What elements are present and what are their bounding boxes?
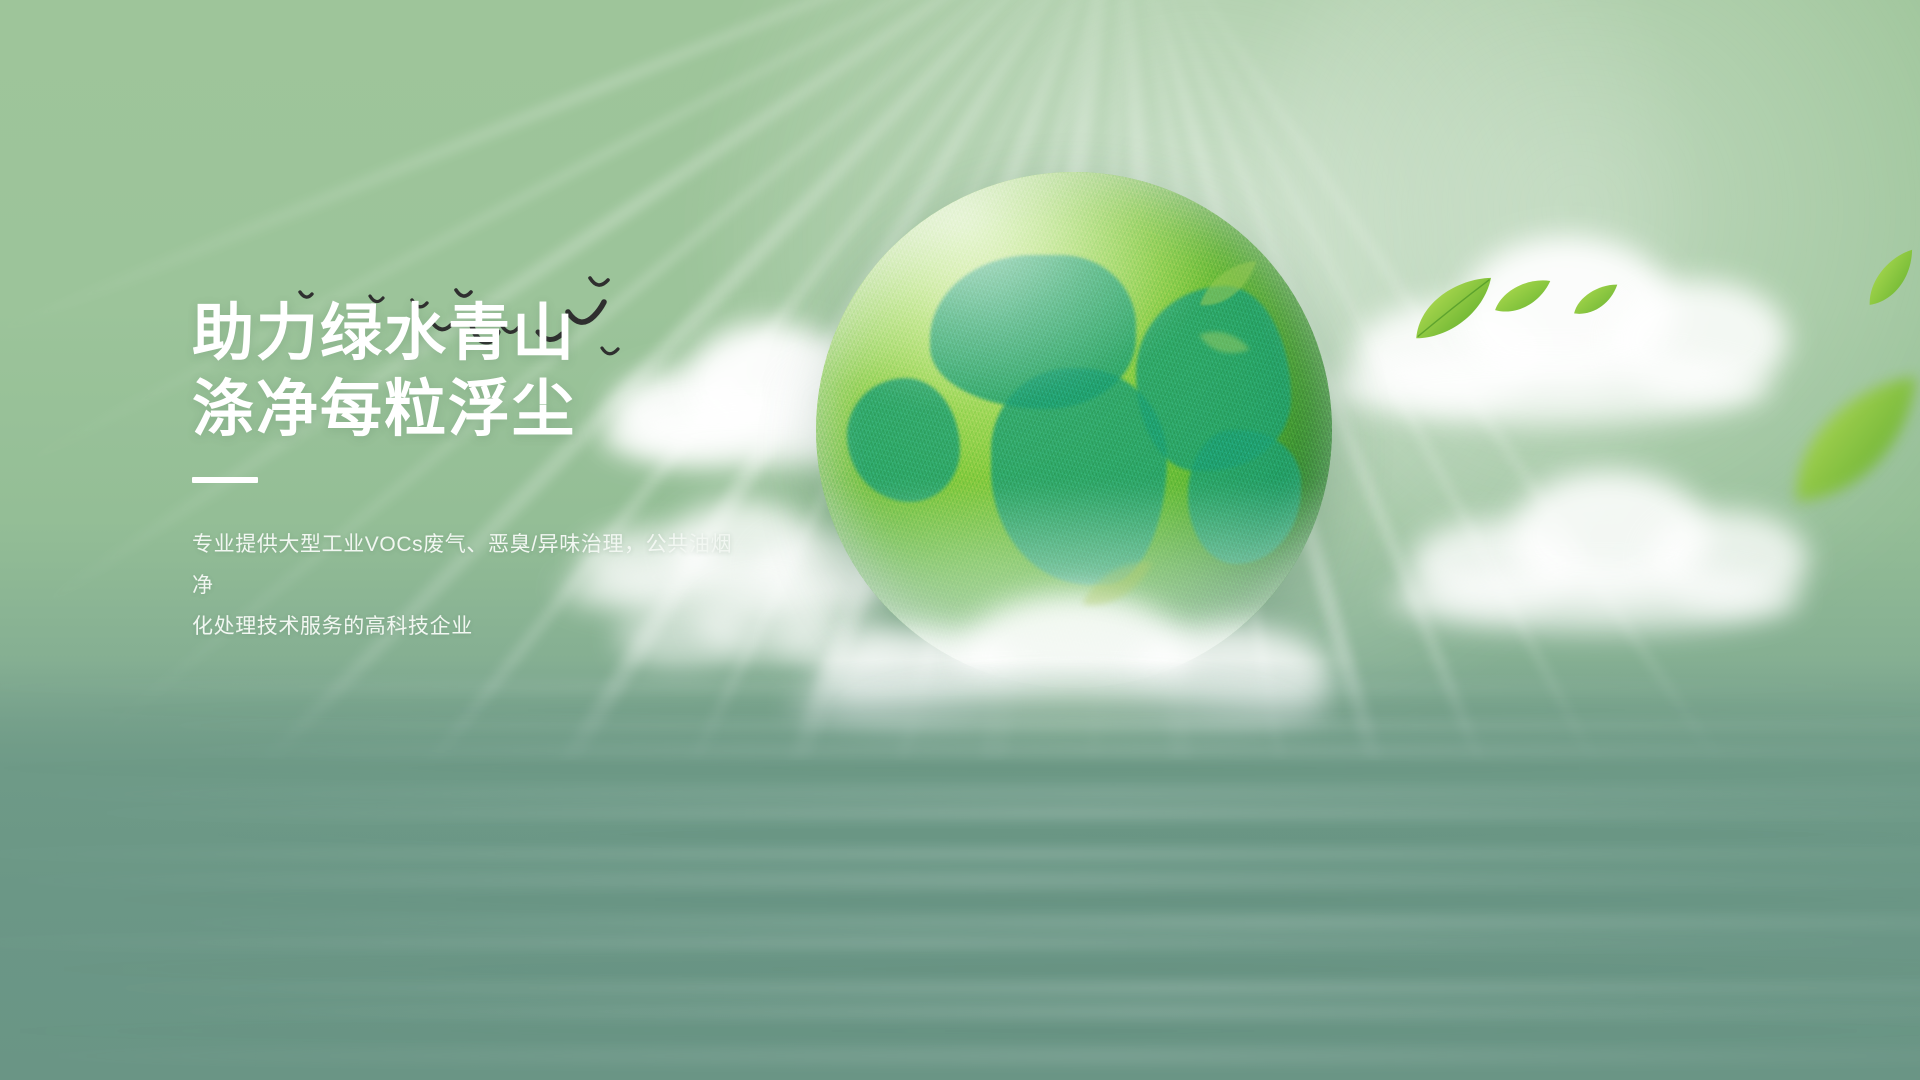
water-ripple — [0, 1026, 1920, 1036]
banner-copy: 助力绿水青山 涤净每粒浮尘 专业提供大型工业VOCs废气、恶臭/异味治理，公共油… — [192, 296, 952, 648]
hero-banner: 助力绿水青山 涤净每粒浮尘 专业提供大型工业VOCs废气、恶臭/异味治理，公共油… — [0, 0, 1920, 1080]
bird-icon — [590, 278, 608, 285]
water-ripple — [0, 982, 1920, 994]
headline-line-2: 涤净每粒浮尘 — [192, 372, 952, 448]
water-ripple — [0, 722, 1920, 729]
title-divider — [192, 477, 258, 483]
headline-line-1: 助力绿水青山 — [192, 296, 952, 372]
cloud-right — [1330, 210, 1800, 440]
leaf-icon — [1401, 270, 1507, 349]
water-ripple — [0, 808, 1920, 818]
water-ripple — [77, 1004, 1920, 1019]
leaf-icon — [1568, 281, 1625, 320]
upper-right-glow — [1250, 0, 1920, 620]
water-ripple — [77, 828, 1920, 841]
water-ripple — [0, 872, 1920, 889]
page-title: 助力绿水青山 涤净每粒浮尘 — [192, 296, 952, 447]
water-ripple — [0, 786, 1920, 802]
cloud-right-lower — [1390, 440, 1820, 640]
leaf-icon — [1854, 246, 1920, 312]
water-ripple — [0, 938, 1920, 947]
water-ripple — [77, 744, 1920, 758]
water-ripple — [0, 960, 1920, 978]
water-ripple — [0, 850, 1920, 858]
banner-subcopy: 专业提供大型工业VOCs废气、恶臭/异味治理，公共油烟净 化处理技术服务的高科技… — [192, 525, 752, 648]
leaf-icon — [1762, 365, 1920, 519]
water-ripple — [0, 1048, 1920, 1064]
water-surface — [0, 660, 1920, 1080]
water-ripple — [0, 704, 1920, 716]
leaf-icon — [1490, 276, 1557, 318]
subcopy-line-2: 化处理技术服务的高科技企业 — [192, 607, 752, 648]
water-ripple — [0, 764, 1920, 772]
water-ripple — [77, 916, 1920, 930]
water-ripple — [0, 682, 1920, 691]
water-ripple — [0, 894, 1920, 905]
subcopy-line-1: 专业提供大型工业VOCs废气、恶臭/异味治理，公共油烟净 — [192, 525, 752, 607]
